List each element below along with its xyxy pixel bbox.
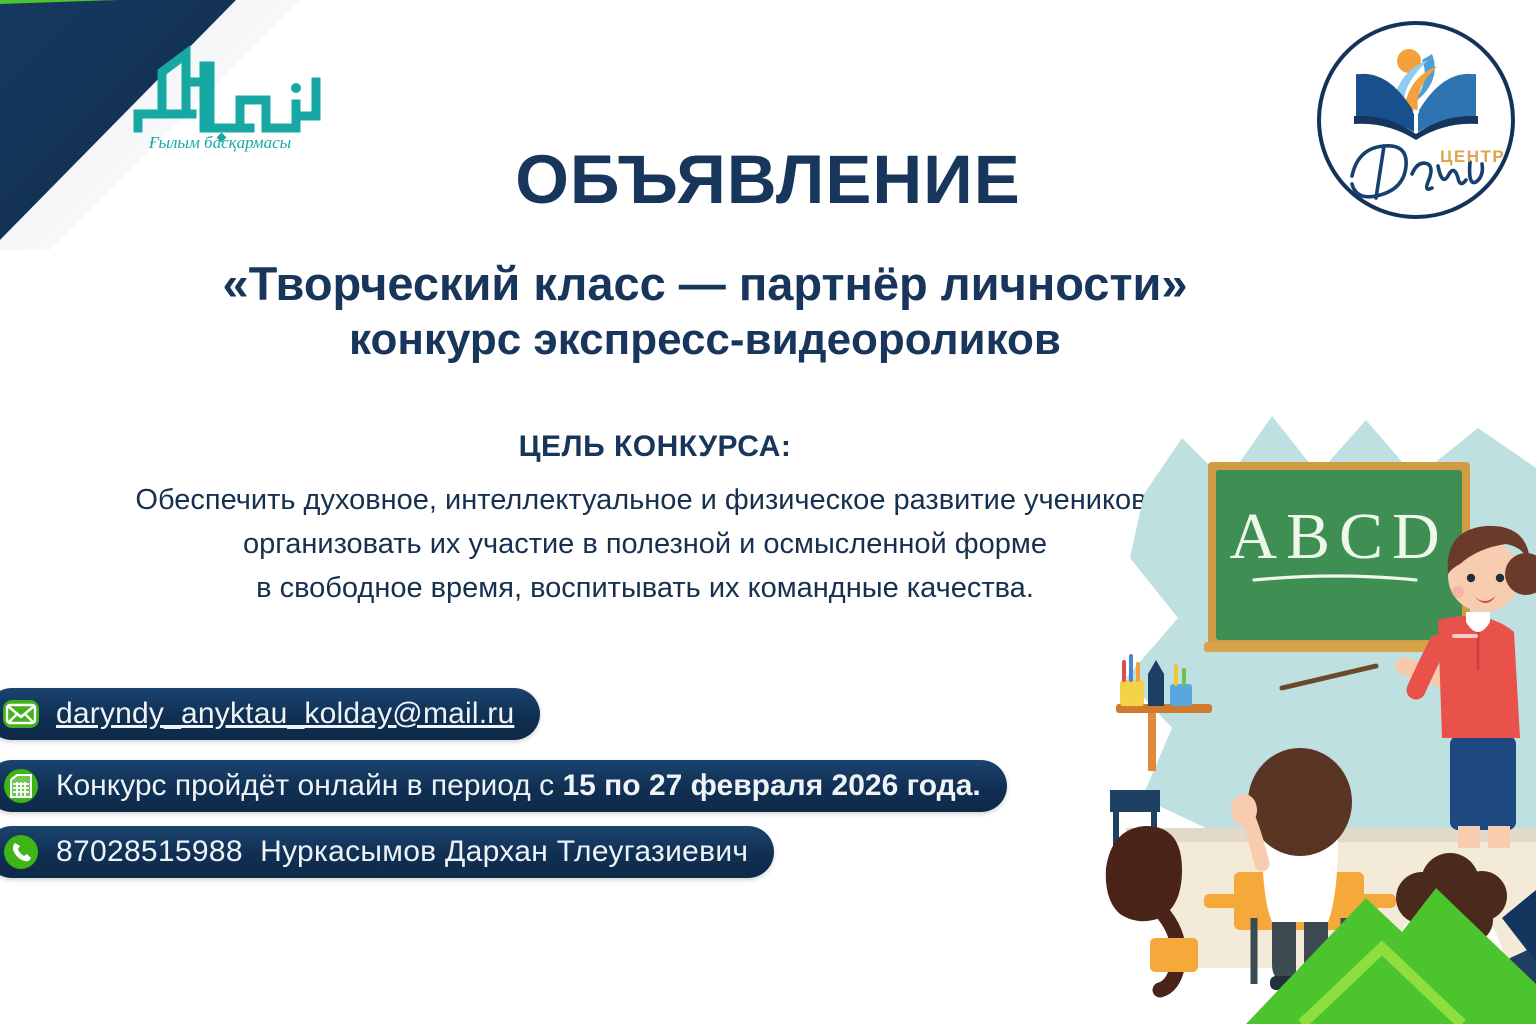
raised-hand bbox=[1231, 794, 1257, 826]
contest-dates-pill: Конкурс пройдёт онлайн в период с 15 по … bbox=[0, 760, 1007, 812]
classroom-illustration: ABCD bbox=[1086, 398, 1536, 998]
subtitle-block: «Творческий класс — партнёр личности» ко… bbox=[60, 258, 1350, 365]
contact-person: Нуркасымов Дархан Тлеугазиевич bbox=[260, 835, 748, 868]
page-title: ОБЪЯВЛЕНИЕ bbox=[0, 140, 1536, 219]
contest-name: «Творческий класс — партнёр личности» bbox=[60, 258, 1350, 311]
teacher-skirt bbox=[1450, 736, 1516, 830]
email-address[interactable]: daryndy_anyktau_kolday@mail.ru bbox=[56, 699, 514, 729]
contest-kind: конкурс экспресс-видеороликов bbox=[60, 315, 1350, 366]
abai-logo: Ғылым басқармасы bbox=[100, 42, 340, 152]
date-range: 15 по 27 февраля 2026 года. bbox=[562, 769, 980, 802]
pencil-cup-yellow bbox=[1120, 680, 1144, 706]
date-prefix: Конкурс пройдёт онлайн в период с bbox=[56, 769, 562, 802]
classroom-chair bbox=[1110, 790, 1160, 812]
calendar-icon bbox=[2, 767, 40, 805]
phone-and-contact: 87028515988 Нуркасымов Дархан Тлеугазиев… bbox=[56, 837, 748, 867]
phone-icon bbox=[2, 833, 40, 871]
contest-dates: Конкурс пройдёт онлайн в период с 15 по … bbox=[56, 771, 981, 801]
chalkboard: ABCD bbox=[1204, 462, 1476, 652]
student-braid-hair bbox=[1106, 826, 1182, 921]
student-hair bbox=[1248, 748, 1352, 856]
contact-phone-pill[interactable]: 87028515988 Нуркасымов Дархан Тлеугазиев… bbox=[0, 826, 774, 878]
corner-green-wedge bbox=[0, 0, 110, 112]
pencil-cup-blue bbox=[1170, 684, 1192, 706]
chalkboard-text: ABCD bbox=[1229, 500, 1448, 573]
phone-number[interactable]: 87028515988 bbox=[56, 835, 243, 868]
poster-canvas: Ғылым басқармасы bbox=[0, 0, 1536, 1024]
contact-email-pill[interactable]: daryndy_anyktau_kolday@mail.ru bbox=[0, 688, 540, 740]
envelope-icon bbox=[2, 695, 40, 733]
